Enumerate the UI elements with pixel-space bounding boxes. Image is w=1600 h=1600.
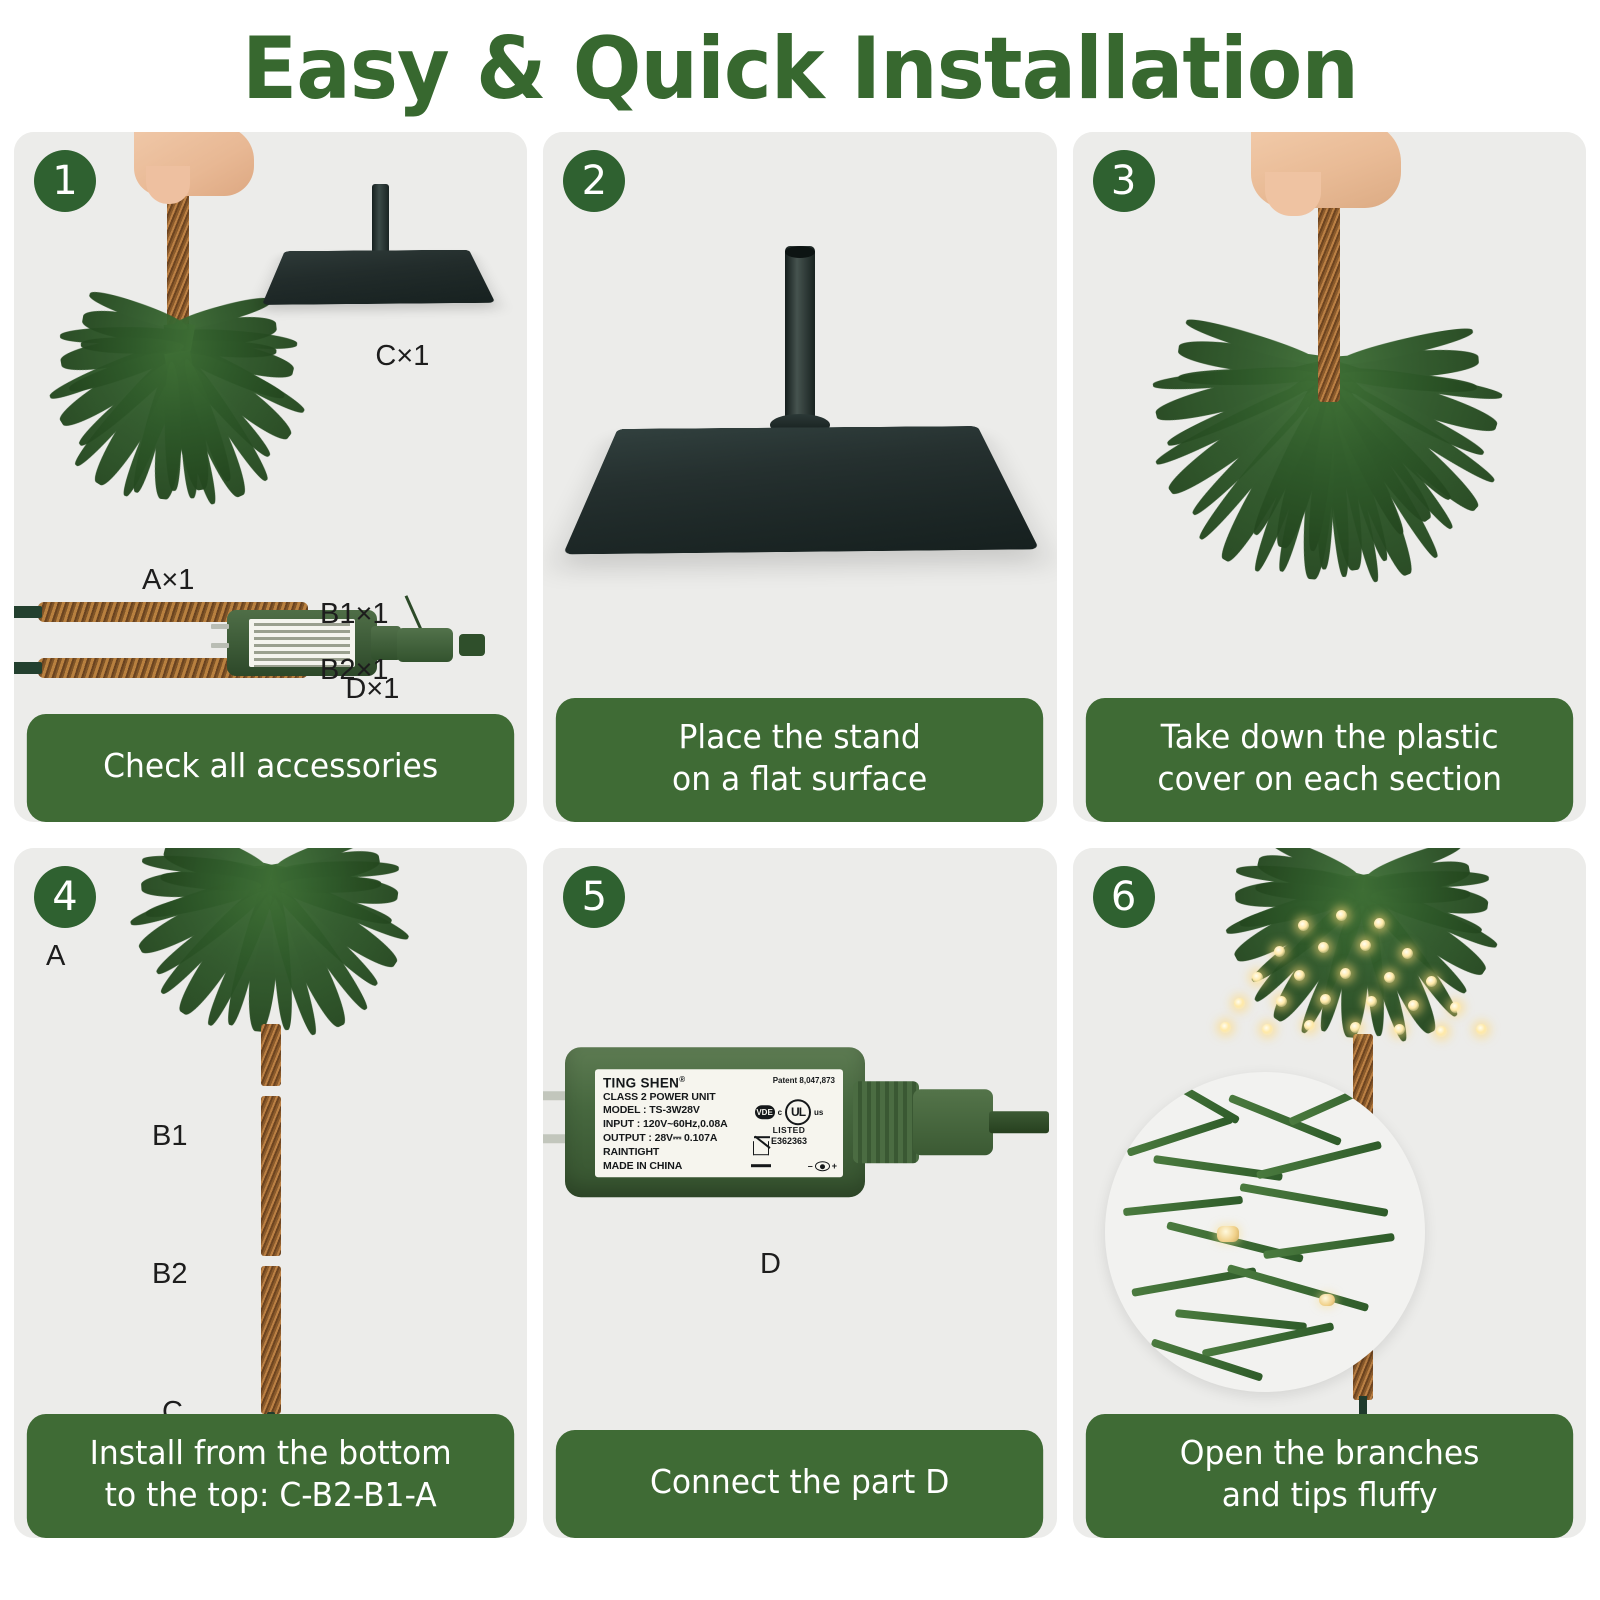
- step-3-illustration: 3: [1073, 132, 1586, 698]
- step-caption-6-line-2: and tips fluffy: [1221, 1474, 1437, 1516]
- step-4-illustration: 4 A B1: [14, 848, 527, 1414]
- adapter-body: TING SHEN® CLASS 2 POWER UNIT MODEL : TS…: [565, 1047, 865, 1197]
- stand-base-plate: [563, 426, 1039, 554]
- adapter-connector: [913, 1089, 993, 1155]
- step-number-badge-5: 5: [563, 866, 625, 928]
- step-caption-2-line-1: Place the stand: [679, 716, 921, 758]
- step-caption-6: Open the branches and tips fluffy: [1085, 1414, 1573, 1538]
- step-number-badge-1: 1: [34, 150, 96, 212]
- lit-tree-stem: [1359, 1396, 1367, 1414]
- adapter-threaded-neck: [853, 1081, 919, 1163]
- polarity-icon: – +: [808, 1161, 837, 1171]
- step-caption-5-line-1: Connect the part D: [650, 1461, 949, 1503]
- weee-bin-icon: [753, 1137, 771, 1159]
- ul-prefix-label: c: [778, 1108, 782, 1117]
- part-d-connector-body: [397, 628, 453, 662]
- adapter-label-d: D: [760, 1248, 781, 1281]
- polarity-plus: +: [832, 1161, 837, 1171]
- step-card-4: 4 A B1: [14, 848, 527, 1538]
- part-label-d: D×1: [345, 673, 399, 706]
- part-label-a: A×1: [142, 564, 194, 597]
- part-label-b1: B1×1: [320, 598, 389, 631]
- step-2-illustration: 2: [543, 132, 1056, 698]
- part-c-plate: [262, 250, 495, 305]
- step-caption-2-line-2: on a flat surface: [672, 758, 927, 800]
- ul-listed-icon: UL: [785, 1099, 811, 1125]
- assembly-label-a: A: [46, 940, 65, 973]
- zoom-bulb-detail: [1217, 1226, 1239, 1242]
- ul-mark-row: VDE c UL us: [741, 1099, 837, 1125]
- branch-detail-zoom-inset: [1105, 1072, 1425, 1392]
- step-card-2: 2 Place the stand on a flat surface: [543, 132, 1056, 822]
- step-number-badge-2: 2: [563, 150, 625, 212]
- adapter-patent-text: Patent 8,047,873: [773, 1076, 835, 1085]
- step-caption-3-line-2: cover on each section: [1157, 758, 1502, 800]
- stand-pole: [785, 246, 815, 436]
- hand-holding-tree-icon: [134, 132, 254, 196]
- step-number-badge-4: 4: [34, 866, 96, 928]
- adapter-line-raintight: RAINTIGHT: [603, 1147, 835, 1161]
- adapter-spec-label: TING SHEN® CLASS 2 POWER UNIT MODEL : TS…: [595, 1069, 843, 1177]
- step-1-illustration: 1 A×1 C×1: [14, 132, 527, 714]
- vde-mark-icon: VDE: [755, 1105, 775, 1119]
- part-d-prongs: [211, 624, 229, 660]
- assembled-trunk-a: [261, 1024, 281, 1086]
- ul-suffix-label: us: [814, 1108, 823, 1117]
- step-caption-5: Connect the part D: [556, 1430, 1044, 1538]
- part-c-stand-graphic: [275, 184, 485, 332]
- step-caption-4-line-1: Install from the bottom: [90, 1432, 452, 1474]
- bundled-tree-trunk: [1318, 192, 1340, 402]
- step-card-5: 5 TING SHEN® CLASS 2 POWER UNIT MODEL : …: [543, 848, 1056, 1538]
- step-card-3: 3 Take down the plastic cover on each se…: [1073, 132, 1586, 822]
- part-label-c: C×1: [375, 340, 429, 373]
- assembly-label-b1: B1: [152, 1120, 187, 1153]
- step-number-badge-6: 6: [1093, 866, 1155, 928]
- adapter-cord: [989, 1111, 1049, 1133]
- step-caption-3: Take down the plastic cover on each sect…: [1085, 698, 1573, 822]
- stand-on-flat-surface-graphic: [585, 246, 1015, 606]
- step-caption-4-line-2: to the top: C-B2-B1-A: [105, 1474, 437, 1516]
- page-title: Easy & Quick Installation: [48, 0, 1552, 122]
- part-d-connector-graphic: [397, 628, 475, 662]
- step-caption-2: Place the stand on a flat surface: [556, 698, 1044, 822]
- ul-listed-text: LISTED: [741, 1125, 837, 1135]
- part-d-connector-head: [459, 634, 485, 656]
- step-card-1: 1 A×1 C×1: [14, 132, 527, 822]
- assembled-trunk-b1: [261, 1096, 281, 1256]
- assembled-trunk-b2: [261, 1266, 281, 1414]
- part-b1-tip: [14, 606, 42, 618]
- power-adapter-graphic: TING SHEN® CLASS 2 POWER UNIT MODEL : TS…: [565, 1047, 1035, 1217]
- step-caption-1: Check all accessories: [27, 714, 515, 822]
- polarity-minus: –: [808, 1161, 813, 1171]
- step-6-illustration: 6: [1073, 848, 1586, 1414]
- hand-holding-section-icon: [1251, 132, 1401, 208]
- step-caption-4: Install from the bottom to the top: C-B2…: [27, 1414, 515, 1538]
- step-caption-3-line-1: Take down the plastic: [1160, 716, 1498, 758]
- step-number-badge-3: 3: [1093, 150, 1155, 212]
- step-5-illustration: 5 TING SHEN® CLASS 2 POWER UNIT MODEL : …: [543, 848, 1056, 1430]
- step-caption-6-line-1: Open the branches: [1179, 1432, 1479, 1474]
- step-card-6: 6: [1073, 848, 1586, 1538]
- polarity-ring: [815, 1161, 830, 1171]
- step-caption-1-line-1: Check all accessories: [103, 745, 438, 787]
- zoom-bulb-detail-2: [1319, 1294, 1335, 1306]
- assembly-label-b2: B2: [152, 1258, 187, 1291]
- part-b2-tip: [14, 662, 42, 674]
- assembly-label-c: C: [162, 1396, 183, 1414]
- installation-steps-grid: 1 A×1 C×1: [0, 122, 1600, 1552]
- adapter-line-origin: MADE IN CHINA: [603, 1160, 835, 1174]
